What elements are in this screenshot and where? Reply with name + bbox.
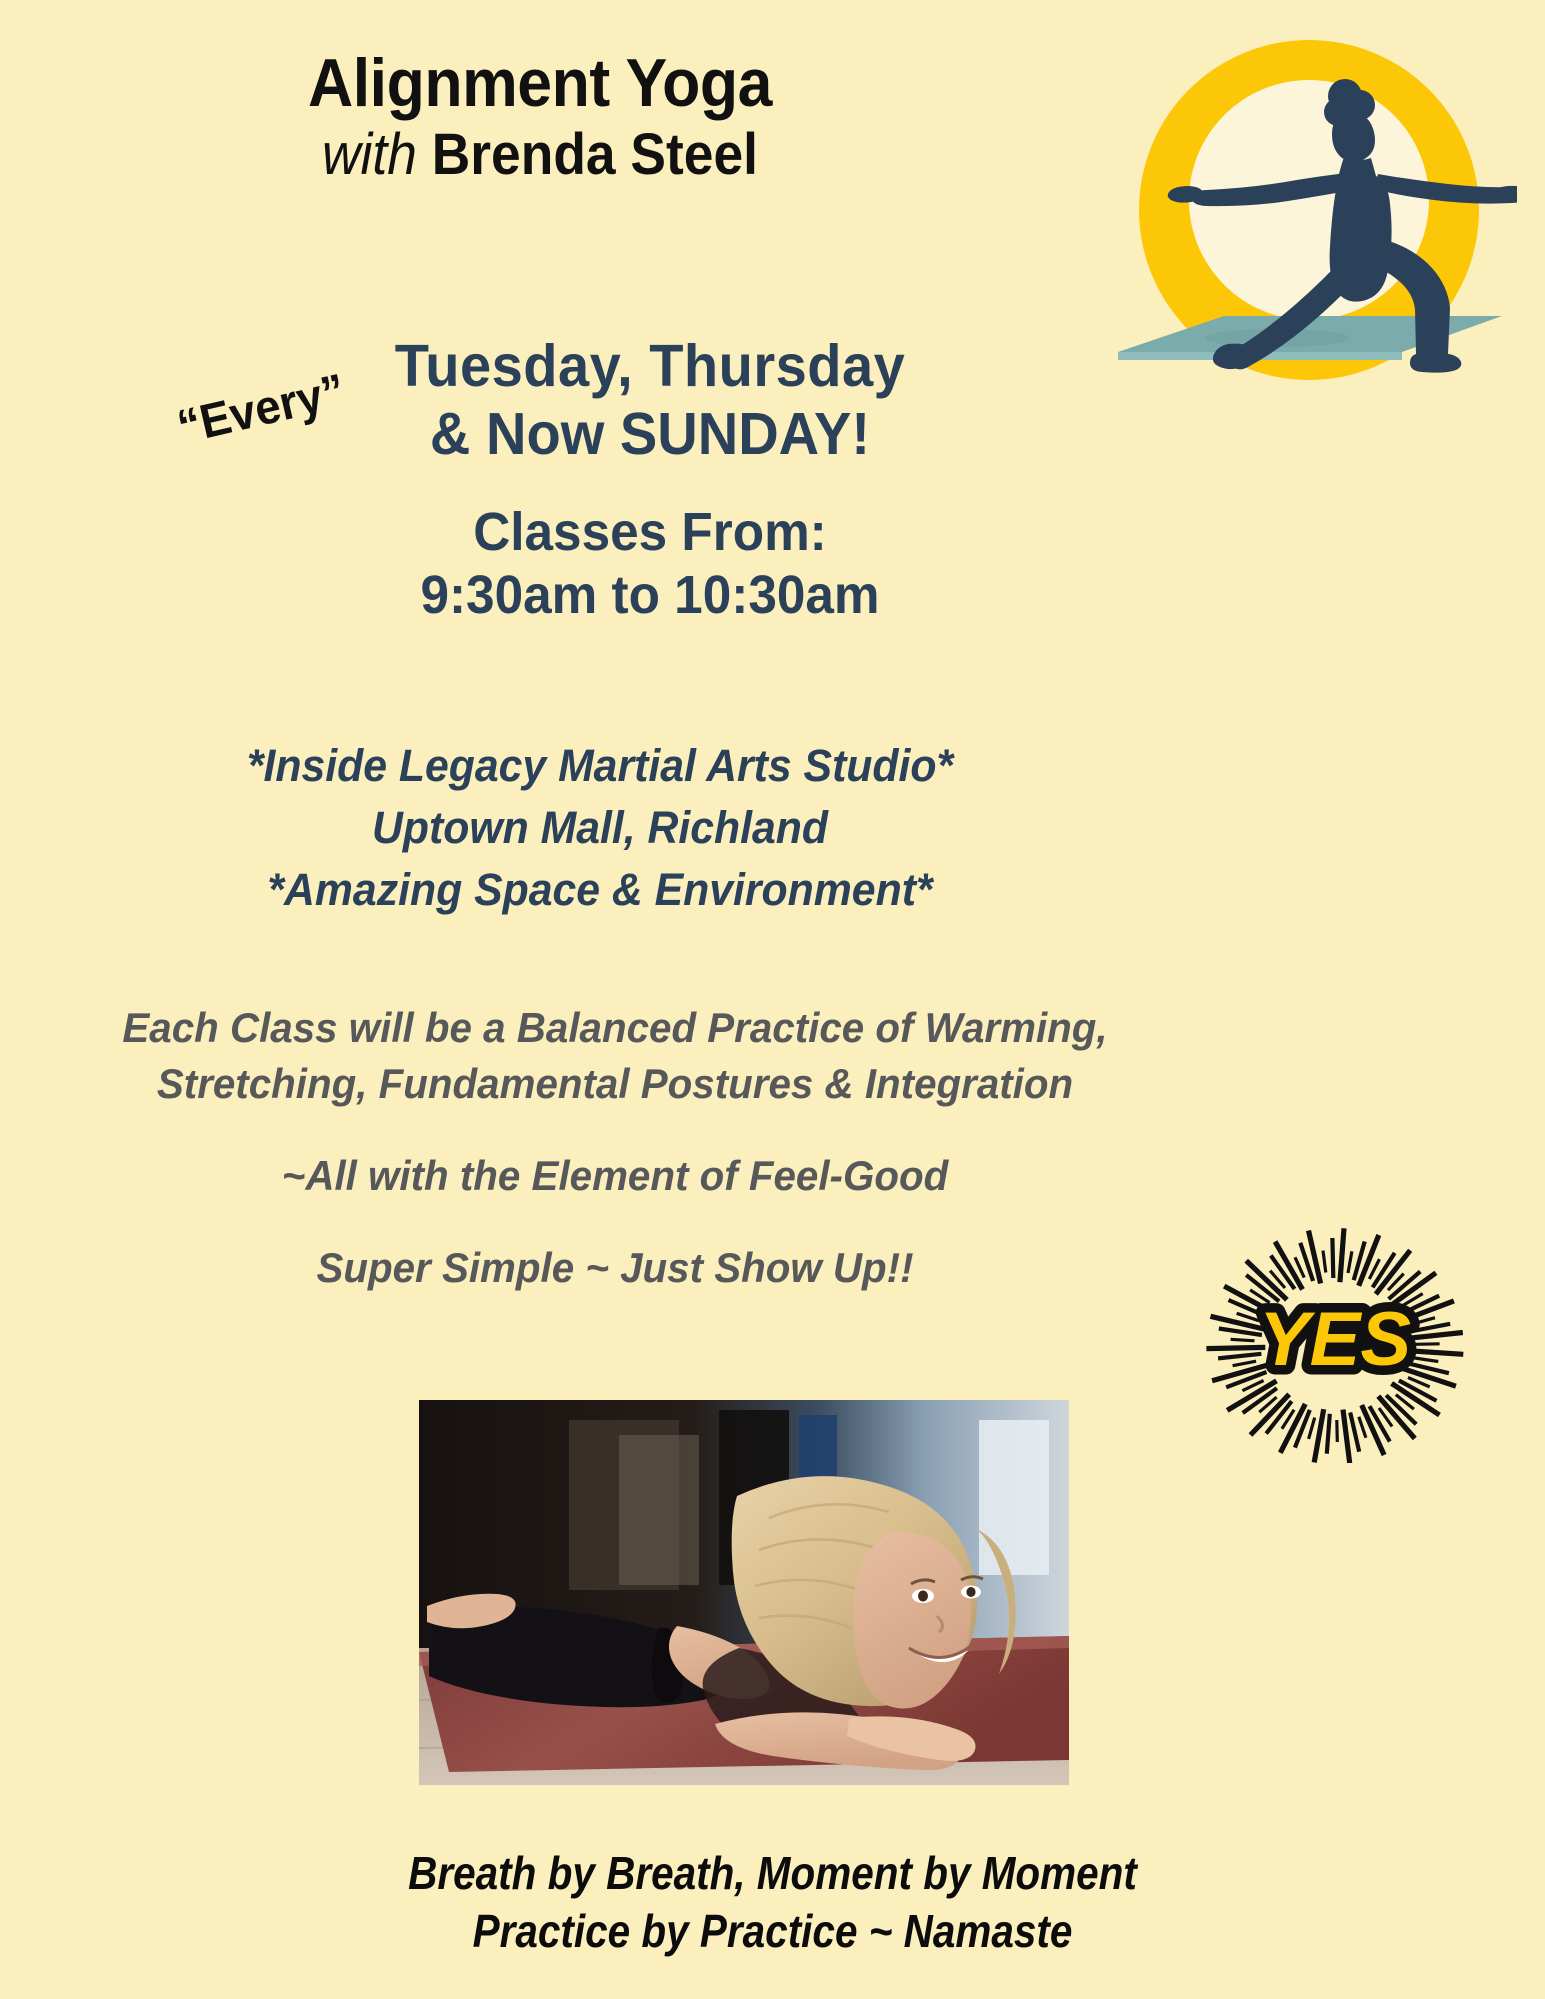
header-block: Alignment Yoga with Brenda Steel bbox=[0, 48, 1080, 188]
footer-line-1: Breath by Breath, Moment by Moment bbox=[93, 1845, 1453, 1903]
schedule-block: Tuesday, Thursday & Now SUNDAY! Classes … bbox=[300, 333, 1000, 628]
instructor-photo bbox=[419, 1400, 1069, 1785]
description-line-3: ~All with the Element of Feel-Good bbox=[25, 1148, 1206, 1204]
description-line-1: Each Class will be a Balanced Practice o… bbox=[25, 1000, 1206, 1056]
instructor-line: with Brenda Steel bbox=[43, 123, 1037, 188]
class-time-range: 9:30am to 10:30am bbox=[318, 564, 983, 628]
page-title: Alignment Yoga bbox=[43, 48, 1037, 119]
location-line-studio: *Inside Legacy Martial Arts Studio* bbox=[30, 735, 1170, 797]
instructor-prefix: with bbox=[322, 122, 417, 187]
schedule-days-line-1: Tuesday, Thursday bbox=[318, 333, 983, 401]
description-block: Each Class will be a Balanced Practice o… bbox=[0, 1000, 1230, 1295]
yoga-warrior-pose-logo bbox=[1102, 22, 1517, 422]
footer-line-2: Practice by Practice ~ Namaste bbox=[93, 1903, 1453, 1961]
schedule-days-line-2: & Now SUNDAY! bbox=[318, 401, 983, 469]
description-line-4: Super Simple ~ Just Show Up!! bbox=[25, 1240, 1206, 1296]
description-line-2: Stretching, Fundamental Postures & Integ… bbox=[25, 1056, 1206, 1112]
location-line-address: Uptown Mall, Richland bbox=[30, 797, 1170, 859]
classes-from-label: Classes From: bbox=[318, 501, 983, 565]
yes-starburst-badge: YES YES bbox=[1206, 1228, 1464, 1463]
yes-label: YES bbox=[1259, 1297, 1411, 1382]
location-line-note: *Amazing Space & Environment* bbox=[30, 859, 1170, 921]
footer-block: Breath by Breath, Moment by Moment Pract… bbox=[0, 1845, 1545, 1960]
instructor-name: Brenda Steel bbox=[432, 122, 758, 187]
location-block: *Inside Legacy Martial Arts Studio* Upto… bbox=[0, 735, 1200, 921]
